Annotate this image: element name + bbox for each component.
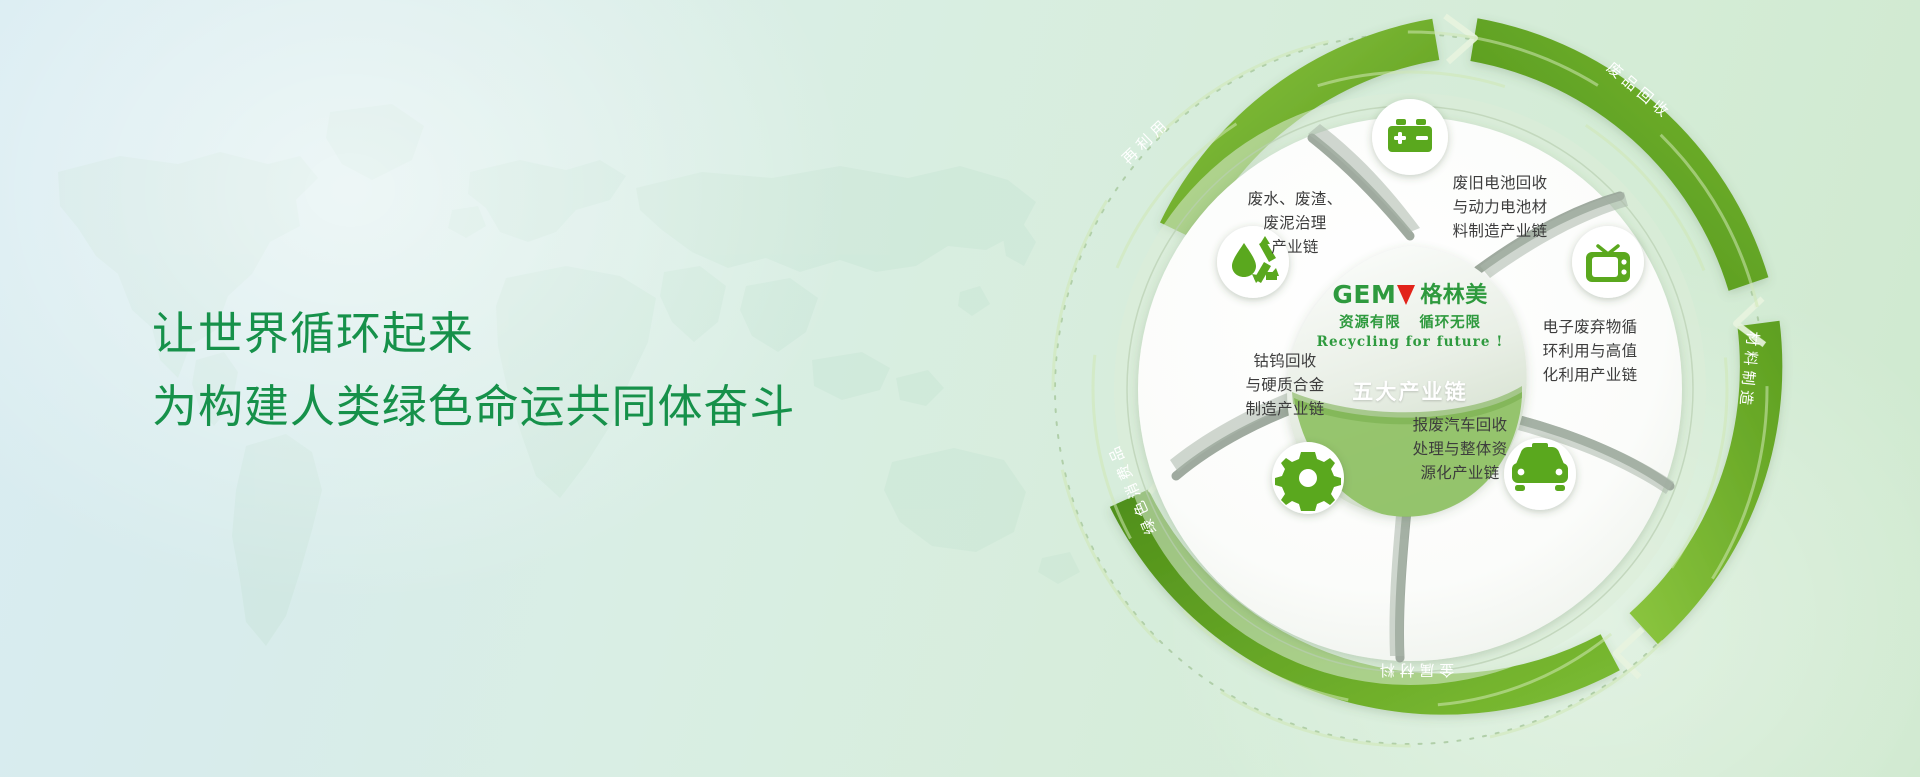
segment-line: 源化产业链 bbox=[1370, 462, 1550, 486]
segment-line: 料制造产业链 bbox=[1410, 220, 1590, 244]
gem-center-logo: GEM 格林美 资源有限 循环无限 Recycling for future !… bbox=[1310, 282, 1510, 406]
gem-slogan-en: Recycling for future ! bbox=[1310, 334, 1510, 350]
banner-stage: 让世界循环起来 为构建人类绿色命运共同体奋斗 bbox=[0, 0, 1920, 777]
five-industry-chains-diagram: 再利用 废品回收 材料制造 金属材料 绿色消费品 废水、废渣、 废泥治理 产业链… bbox=[1020, 0, 1920, 777]
segment-line: 废泥治理 bbox=[1210, 212, 1380, 236]
segment-line: 电子废弃物循 bbox=[1500, 316, 1680, 340]
segment-label-e-waste: 电子废弃物循 环利用与高值 化利用产业链 bbox=[1500, 316, 1680, 388]
gem-slogan: 资源有限 循环无限 bbox=[1310, 311, 1510, 332]
headline-line-2: 为构建人类绿色命运共同体奋斗 bbox=[152, 375, 795, 439]
segment-label-end-of-life-vehicle: 报废汽车回收 处理与整体资 源化产业链 bbox=[1370, 414, 1550, 486]
segment-line: 处理与整体资 bbox=[1370, 438, 1550, 462]
gear-icon bbox=[1275, 452, 1341, 511]
gem-triangle-icon bbox=[1397, 285, 1415, 305]
segment-line: 与动力电池材 bbox=[1410, 196, 1590, 220]
headline: 让世界循环起来 为构建人类绿色命运共同体奋斗 bbox=[152, 302, 795, 439]
segment-line: 废水、废渣、 bbox=[1210, 188, 1380, 212]
gem-slogan-right: 循环无限 bbox=[1419, 315, 1480, 331]
gem-brand-en: GEM bbox=[1332, 282, 1396, 307]
headline-line-1: 让世界循环起来 bbox=[152, 302, 795, 366]
segment-line: 产业链 bbox=[1210, 236, 1380, 260]
segment-line: 废旧电池回收 bbox=[1410, 172, 1590, 196]
segment-line: 报废汽车回收 bbox=[1370, 414, 1550, 438]
gem-slogan-left: 资源有限 bbox=[1339, 315, 1400, 331]
segment-label-battery-recycling: 废旧电池回收 与动力电池材 料制造产业链 bbox=[1410, 172, 1590, 244]
segment-line: 环利用与高值 bbox=[1500, 340, 1680, 364]
segment-line: 化利用产业链 bbox=[1500, 364, 1680, 388]
ring-label-metal-materials: 金属材料 bbox=[1375, 660, 1454, 681]
segment-label-waste-water: 废水、废渣、 废泥治理 产业链 bbox=[1210, 188, 1380, 260]
gem-center-subtitle: 五大产业链 bbox=[1310, 376, 1510, 406]
gem-brand-cn: 格林美 bbox=[1420, 284, 1487, 306]
